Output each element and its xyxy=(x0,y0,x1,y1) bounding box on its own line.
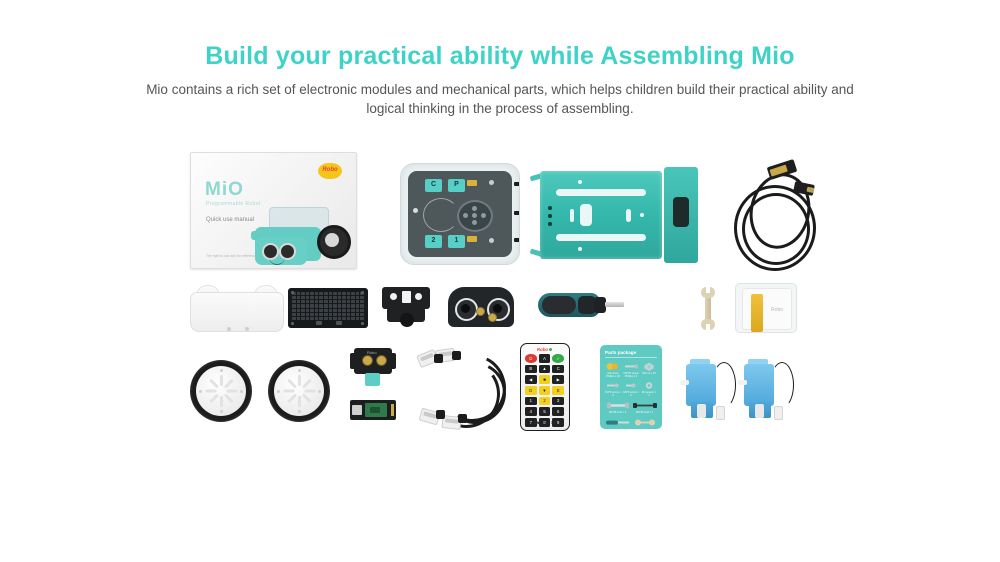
remote-button-1[interactable]: 1 xyxy=(525,397,537,406)
chassis-block-c: C xyxy=(425,179,442,192)
remote-brand: Robo xyxy=(521,347,568,352)
remote-button-label: 4 xyxy=(525,409,537,414)
metal-base-plate xyxy=(530,165,700,265)
robo-badge: Robo xyxy=(318,163,342,179)
parts-item: Screwdriver x 1 xyxy=(605,417,630,432)
remote-footer-icons: ▮▶ ↺ ⏻ xyxy=(521,420,568,426)
remote-button-label: ⏻ xyxy=(525,356,537,361)
remote-button-c[interactable]: C xyxy=(552,365,564,374)
part-caption: Wrench x 1 xyxy=(632,429,657,432)
part-caption: M3 nut x 20 xyxy=(641,372,657,375)
screwdriver xyxy=(538,285,624,329)
usb-cable xyxy=(730,155,835,273)
remote-button-a[interactable]: A xyxy=(539,354,551,363)
part-icon xyxy=(605,417,630,429)
remote-button-label: ◀ xyxy=(525,377,537,382)
part-icon xyxy=(623,380,639,391)
parts-item: M3 nut x 20 xyxy=(641,361,657,378)
part-icon xyxy=(632,417,657,429)
wrench xyxy=(700,286,716,330)
caster-bracket xyxy=(382,287,430,329)
remote-button-[interactable]: ⏻ xyxy=(525,354,537,363)
part-icon xyxy=(605,399,630,411)
part-caption: M3 screw Phillips x 30 xyxy=(605,372,621,378)
remote-button-label: 5 xyxy=(539,409,551,414)
remote-button-label: 3 xyxy=(552,398,564,403)
ir-remote-control[interactable]: Robo ⏻A✓B▲C◀■▶D▼E123456789 ▮▶ ↺ ⏻ xyxy=(520,343,570,431)
parts-item: M3*25 screw Phillips x 4 xyxy=(623,361,639,378)
remote-button-label: ▼ xyxy=(539,388,551,393)
page-headline: Build your practical ability while Assem… xyxy=(0,42,1000,71)
robo-badge-label: Robo xyxy=(318,167,342,173)
part-caption: M3 spacer x 4 xyxy=(641,391,657,397)
part-caption: M3*6 screw x 6 xyxy=(623,391,639,397)
wheel-left xyxy=(190,360,252,422)
remote-button-b[interactable]: B xyxy=(525,365,537,374)
parts-item: M3*8 screw x 8 xyxy=(605,380,621,397)
remote-button-[interactable]: ▶ xyxy=(552,375,564,384)
module-connection-cables xyxy=(418,348,510,430)
product-feature-page: Build your practical ability while Assem… xyxy=(0,0,1000,562)
part-caption: M3*25 screw Phillips x 4 xyxy=(623,372,639,378)
battery-label: Robo xyxy=(771,307,783,313)
remote-button-5[interactable]: 5 xyxy=(539,407,551,416)
remote-button-label: ▶ xyxy=(552,377,564,382)
remote-button-label: ✓ xyxy=(552,356,564,361)
quick-use-manual: MiO Programmable Robot Quick use manual … xyxy=(190,152,357,269)
remote-button-3[interactable]: 3 xyxy=(552,397,564,406)
part-icon xyxy=(623,361,639,372)
transparent-chassis: C P 2 1 xyxy=(400,163,520,265)
remote-button-[interactable]: ✓ xyxy=(552,354,564,363)
remote-button-4[interactable]: 4 xyxy=(525,407,537,416)
remote-button-6[interactable]: 6 xyxy=(552,407,564,416)
parts-grid-bottom: M3*35 stud x 4M3*45 stud x 2Screwdriver … xyxy=(605,399,657,431)
ultrasonic-sensor xyxy=(448,287,514,327)
gear-motor-right xyxy=(744,358,780,420)
remote-button-2[interactable]: 2 xyxy=(539,397,551,406)
remote-button-label: 1 xyxy=(525,398,537,403)
parts-item: M3*45 stud x 2 xyxy=(632,399,657,414)
remote-button-label: D xyxy=(525,388,537,393)
chassis-block-1: 1 xyxy=(448,235,465,248)
parts-item: M3 spacer x 4 xyxy=(641,380,657,397)
parts-card-title: Parts package xyxy=(605,350,657,355)
parts-package-card: Parts package M3 screw Phillips x 30M3*2… xyxy=(600,345,662,429)
remote-keypad[interactable]: ⏻A✓B▲C◀■▶D▼E123456789 xyxy=(525,354,564,427)
part-icon xyxy=(641,380,657,391)
parts-item: Wrench x 1 xyxy=(632,417,657,432)
remote-button-label: ▲ xyxy=(539,366,551,371)
led-dot-matrix-panel xyxy=(288,288,368,328)
part-caption: M3*8 screw x 8 xyxy=(605,391,621,397)
chassis-block-p: P xyxy=(448,179,465,192)
remote-button-label: E xyxy=(552,388,564,393)
line-follower-sensor: Robo xyxy=(350,348,396,390)
part-icon xyxy=(641,361,657,372)
chassis-hub xyxy=(457,200,493,232)
remote-button-e[interactable]: E xyxy=(552,386,564,395)
remote-button-[interactable]: ■ xyxy=(539,375,551,384)
part-caption: M3*45 stud x 2 xyxy=(632,411,657,414)
remote-button-label: 6 xyxy=(552,409,564,414)
remote-button-label: 2 xyxy=(539,398,551,403)
parts-item: M3 screw Phillips x 30 xyxy=(605,361,621,378)
manual-robot-illustration xyxy=(247,197,347,265)
remote-button-[interactable]: ▼ xyxy=(539,386,551,395)
remote-button-label: B xyxy=(525,366,537,371)
remote-button-label: A xyxy=(539,356,551,361)
usb-dongle-board xyxy=(350,400,396,420)
part-caption: Screwdriver x 1 xyxy=(605,429,630,432)
manual-brand: MiO xyxy=(205,179,244,201)
wheel-right xyxy=(268,360,330,422)
parts-item: M3*6 screw x 6 xyxy=(623,380,639,397)
part-icon xyxy=(605,361,621,372)
chassis-block-2: 2 xyxy=(425,235,442,248)
parts-item: M3*35 stud x 4 xyxy=(605,399,630,414)
part-icon xyxy=(605,380,621,391)
battery-pack: Robo xyxy=(735,283,797,333)
remote-button-label: C xyxy=(552,366,564,371)
gear-motor-left xyxy=(686,358,722,420)
part-caption: M3*35 stud x 4 xyxy=(605,411,630,414)
face-cover-panel xyxy=(190,285,282,330)
parts-grid-top: M3 screw Phillips x 30M3*25 screw Philli… xyxy=(605,361,657,398)
led-grid xyxy=(292,292,364,320)
remote-button-label: ■ xyxy=(539,377,551,382)
part-icon xyxy=(632,399,657,411)
remote-button-d[interactable]: D xyxy=(525,386,537,395)
page-subline: Mio contains a rich set of electronic mo… xyxy=(140,80,860,118)
remote-button-[interactable]: ▲ xyxy=(539,365,551,374)
remote-button-[interactable]: ◀ xyxy=(525,375,537,384)
